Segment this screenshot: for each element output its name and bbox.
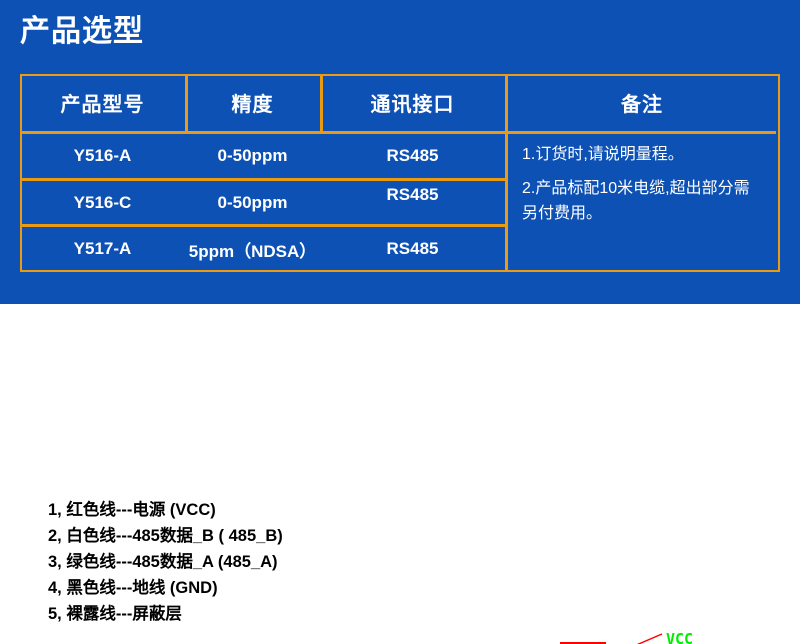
product-selection-panel: 产品选型 产品型号 精度 通讯接口 Y516-A 0-50ppm RS485 Y… bbox=[0, 0, 800, 304]
column-header-model: 产品型号 bbox=[20, 74, 185, 131]
cell-accuracy: 0-50ppm bbox=[185, 180, 320, 226]
cell-accuracy: 5ppm（NDSA） bbox=[185, 226, 320, 272]
header-divider-2 bbox=[320, 74, 323, 131]
leader-vcc bbox=[620, 634, 662, 644]
table-header-row: 产品型号 精度 通讯接口 bbox=[20, 74, 505, 131]
table-row: Y516-C 0-50ppm RS485 bbox=[20, 180, 505, 226]
cell-interface: RS485 bbox=[320, 133, 505, 179]
notes-cell: 1.订货时,请说明量程。 2.产品标配10米电缆,超出部分需另付费用。 bbox=[508, 133, 776, 270]
label-vcc: VCC bbox=[666, 630, 693, 644]
list-item: 2, 白色线---485数据_B ( 485_B) bbox=[48, 523, 568, 549]
product-spec-table: 产品型号 精度 通讯接口 Y516-A 0-50ppm RS485 Y516-C… bbox=[20, 74, 780, 272]
list-item: 1, 红色线---电源 (VCC) bbox=[48, 497, 568, 523]
cell-interface: RS485 bbox=[320, 226, 505, 272]
page-title: 产品选型 bbox=[20, 14, 144, 50]
table-row: Y516-A 0-50ppm RS485 bbox=[20, 133, 505, 179]
column-header-accuracy: 精度 bbox=[185, 74, 320, 131]
cell-model: Y516-A bbox=[20, 133, 185, 179]
table-row: Y517-A 5ppm（NDSA） RS485 bbox=[20, 226, 505, 272]
table-left-block: 产品型号 精度 通讯接口 Y516-A 0-50ppm RS485 Y516-C… bbox=[20, 74, 505, 272]
header-divider-1 bbox=[185, 74, 188, 131]
cell-model: Y517-A bbox=[20, 226, 185, 272]
note-line-1: 1.订货时,请说明量程。 bbox=[522, 143, 764, 168]
list-item: 3, 绿色线---485数据_A (485_A) bbox=[48, 549, 568, 575]
column-header-notes: 备注 bbox=[508, 74, 776, 131]
cell-interface: RS485 bbox=[320, 180, 505, 226]
wire-color-legend-list: 1, 红色线---电源 (VCC) 2, 白色线---485数据_B ( 485… bbox=[48, 497, 568, 627]
list-item: 4, 黑色线---地线 (GND) bbox=[48, 575, 568, 601]
cell-accuracy: 0-50ppm bbox=[185, 133, 320, 179]
column-header-interface: 通讯接口 bbox=[320, 74, 505, 131]
note-line-2: 2.产品标配10米电缆,超出部分需另付费用。 bbox=[522, 177, 764, 227]
cell-model: Y516-C bbox=[20, 180, 185, 226]
list-item: 5, 裸露线---屏蔽层 bbox=[48, 601, 568, 627]
